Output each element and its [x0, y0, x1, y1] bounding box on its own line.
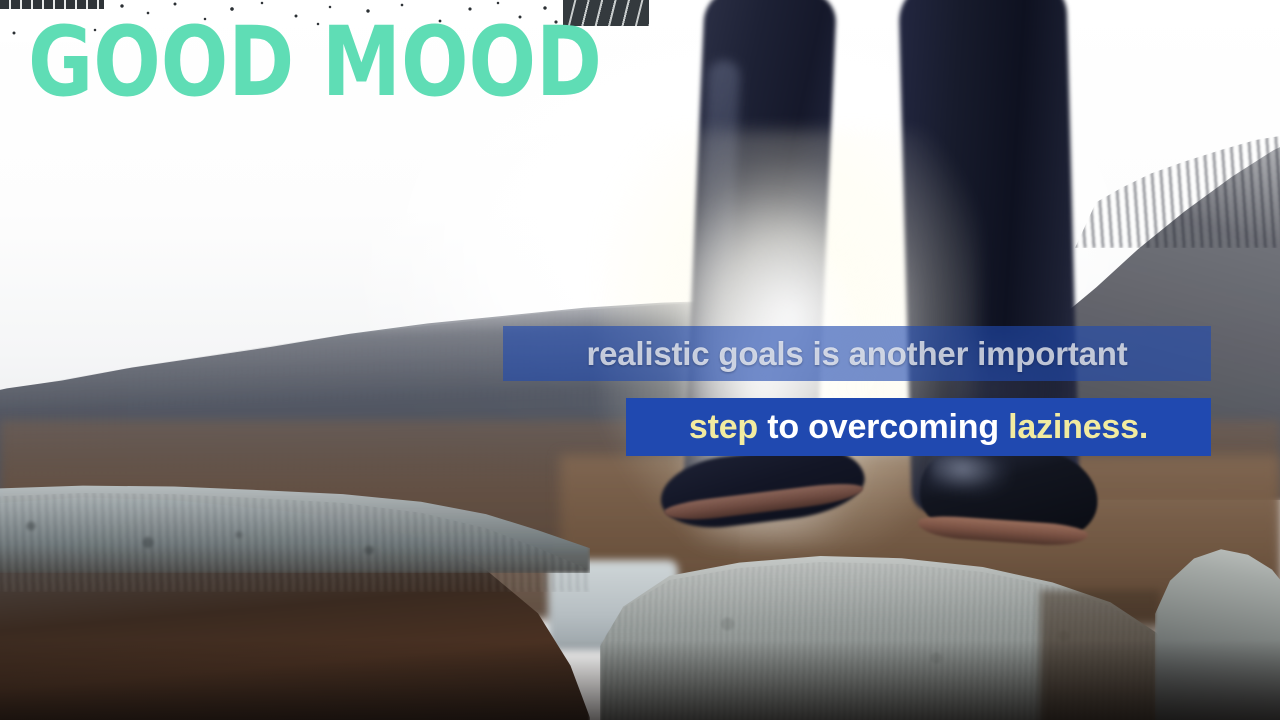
caption-line-2-text: step to overcoming laziness.	[689, 408, 1148, 447]
caption-line-1: realistic goals is another important	[503, 326, 1211, 381]
video-frame: GOOD MOOD realistic goals is another imp…	[0, 0, 1280, 720]
caption-highlight-laziness: laziness.	[1008, 408, 1148, 446]
page-title: GOOD MOOD	[28, 14, 602, 110]
caption-line-1-text: realistic goals is another important	[586, 335, 1127, 373]
rock-shadow-right	[1040, 590, 1160, 720]
shoe-front-highlight	[928, 452, 1011, 501]
caption-plain-middle: to overcoming	[758, 408, 1008, 446]
caption-line-2: step to overcoming laziness.	[626, 398, 1211, 456]
caption-highlight-step: step	[689, 408, 758, 446]
